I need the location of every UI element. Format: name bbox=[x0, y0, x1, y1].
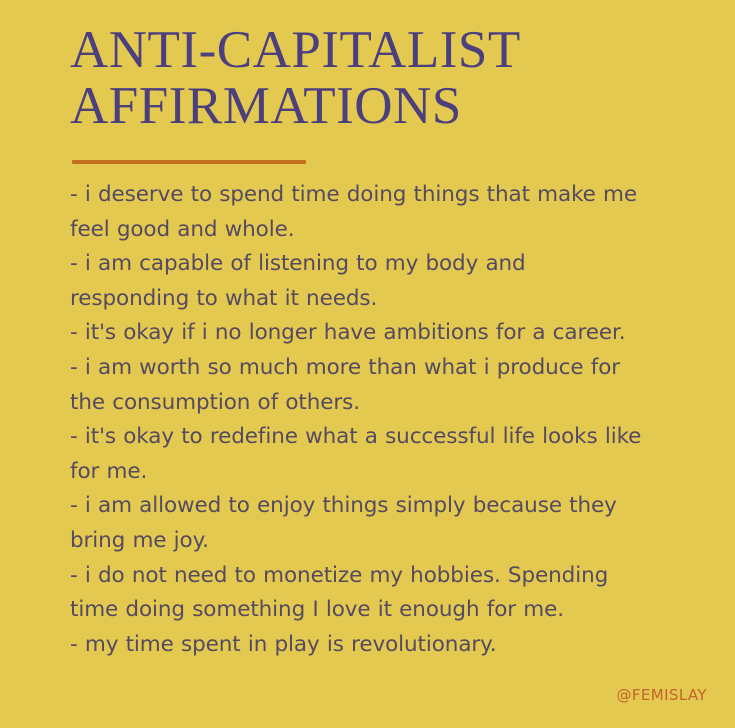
affirmations-list: - i deserve to spend time doing things t… bbox=[70, 178, 648, 662]
list-item: - it's okay if i no longer have ambition… bbox=[70, 316, 648, 351]
list-item: - i deserve to spend time doing things t… bbox=[70, 178, 648, 247]
poster-title: ANTI-CAPITALIST AFFIRMATIONS bbox=[70, 22, 670, 134]
list-item: - it's okay to redefine what a successfu… bbox=[70, 420, 648, 489]
title-line-1: ANTI-CAPITALIST bbox=[70, 22, 670, 78]
list-item: - my time spent in play is revolutionary… bbox=[70, 628, 648, 663]
title-divider-rule bbox=[72, 160, 306, 164]
list-item: - i am allowed to enjoy things simply be… bbox=[70, 489, 648, 558]
list-item: - i do not need to monetize my hobbies. … bbox=[70, 559, 648, 628]
title-line-2: AFFIRMATIONS bbox=[70, 78, 670, 134]
poster-canvas: ANTI-CAPITALIST AFFIRMATIONS - i deserve… bbox=[0, 0, 735, 728]
author-handle-watermark: @FEMISLAY bbox=[616, 686, 707, 704]
list-item: - i am worth so much more than what i pr… bbox=[70, 351, 648, 420]
list-item: - i am capable of listening to my body a… bbox=[70, 247, 648, 316]
